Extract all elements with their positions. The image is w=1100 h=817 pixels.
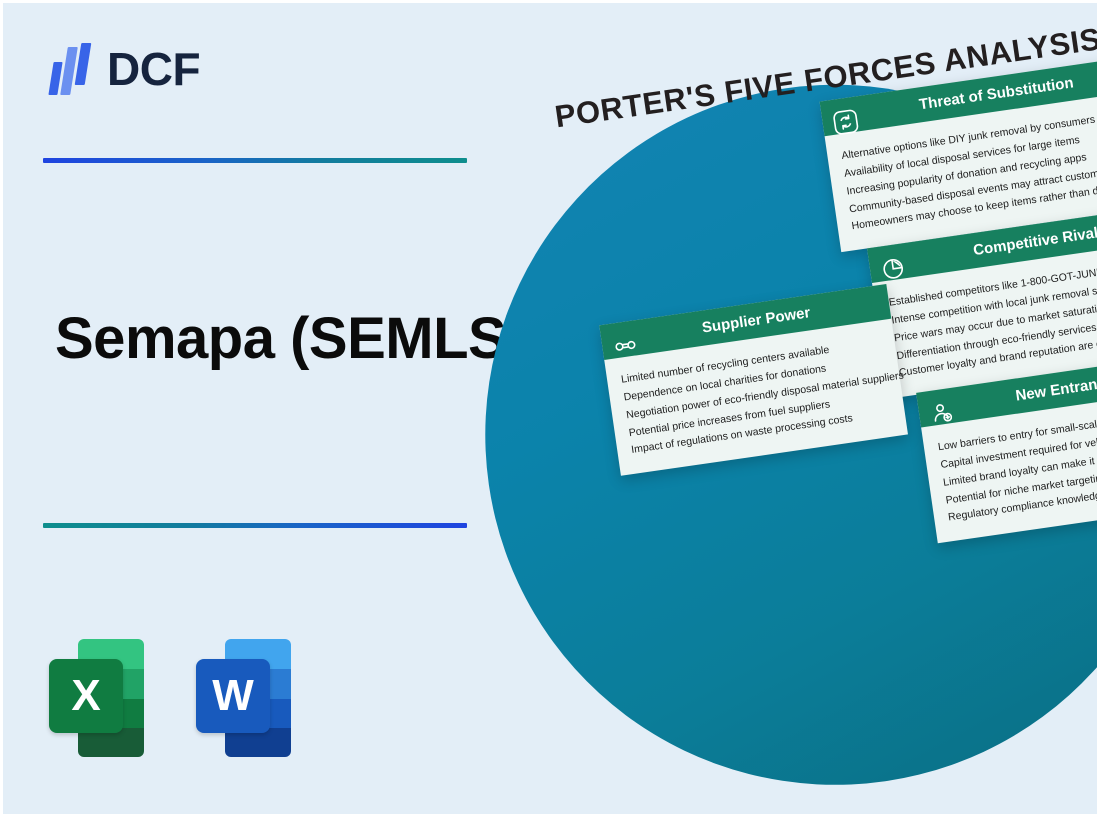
link-chain-icon (610, 330, 642, 362)
word-letter: W (196, 659, 270, 733)
brand-name: DCF (107, 46, 200, 92)
pie-chart-icon (877, 253, 909, 285)
slide-canvas: DCF Semapa (SEMLS) X W PORTER'S FIVE FOR… (0, 0, 1100, 817)
brand-logo[interactable]: DCF (49, 41, 200, 97)
porters-five-forces-infographic: PORTER'S FIVE FORCES ANALYSIS Threat of … (408, 0, 1100, 817)
user-add-icon (926, 397, 958, 429)
word-icon[interactable]: W (196, 633, 291, 757)
bar-chart-logo-icon (49, 41, 93, 97)
excel-letter: X (49, 659, 123, 733)
excel-icon[interactable]: X (49, 633, 144, 757)
divider-bottom (43, 523, 467, 528)
recycle-icon (830, 106, 862, 138)
download-format-icons: X W (49, 633, 291, 757)
divider-top (43, 158, 467, 163)
